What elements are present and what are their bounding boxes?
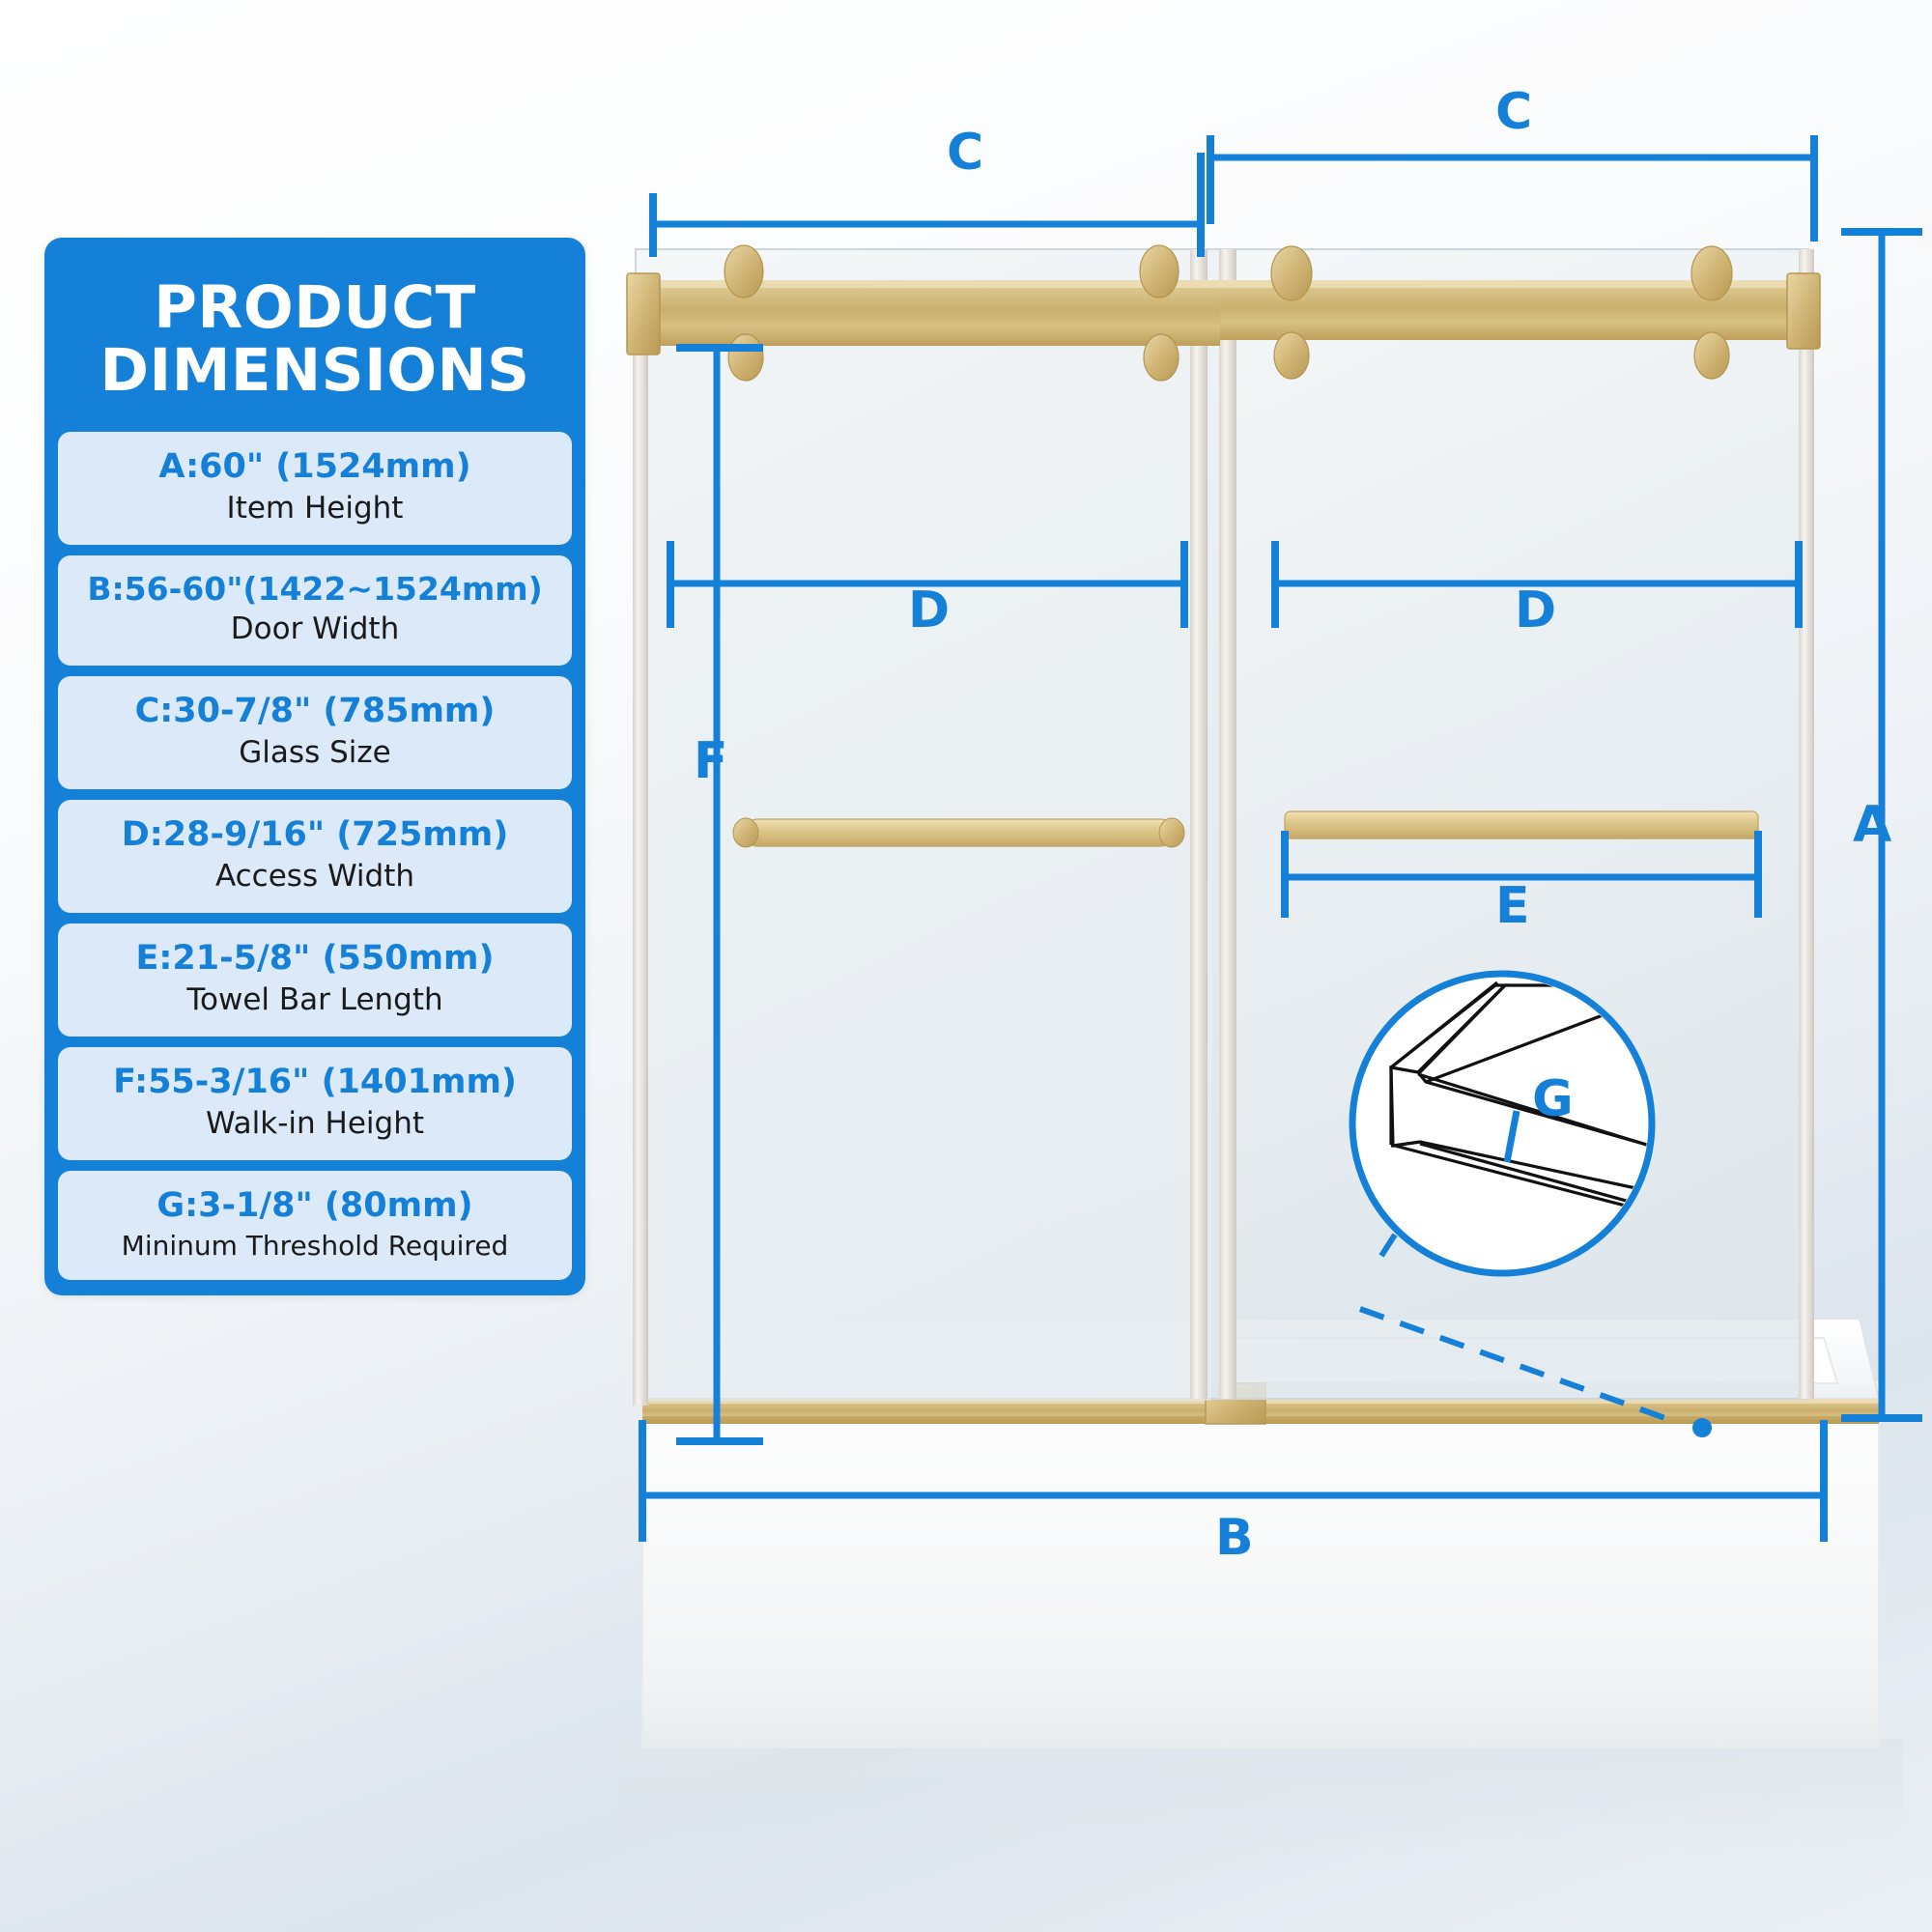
towel-bar-left	[733, 818, 1184, 847]
panel-title-line-1: PRODUCT	[62, 276, 568, 339]
dimension-label-b: B	[1215, 1513, 1254, 1563]
dimension-label-text-c: Glass Size	[66, 734, 564, 772]
dimension-label-text-g: Mininum Threshold Required	[66, 1229, 564, 1263]
dimension-label-text-e: Towel Bar Length	[66, 981, 564, 1019]
dimension-card-f: F:55-3/16" (1401mm) Walk-in Height	[58, 1047, 572, 1160]
dimension-label-c-left: C	[947, 128, 983, 178]
dimension-label-a: A	[1853, 800, 1891, 850]
dimension-card-g: G:3-1/8" (80mm) Mininum Threshold Requir…	[58, 1171, 572, 1280]
dimension-card-e: E:21-5/8" (550mm) Towel Bar Length	[58, 923, 572, 1037]
dimension-card-c: C:30-7/8" (785mm) Glass Size	[58, 676, 572, 789]
panel-title: PRODUCT DIMENSIONS	[58, 251, 572, 432]
product-dimensions-infographic: C C D D E F A B G PRODUCT DIMENSIONS A:6…	[0, 0, 1932, 1932]
dimension-label-text-b: Door Width	[66, 611, 564, 648]
dimension-value-b: B:56-60"(1422~1524mm)	[66, 571, 564, 608]
dimension-value-g: G:3-1/8" (80mm)	[66, 1186, 564, 1225]
dimension-label-c-right: C	[1495, 87, 1532, 137]
dimension-label-f: F	[694, 736, 728, 786]
dimension-label-g: G	[1532, 1074, 1574, 1124]
dimension-card-b: B:56-60"(1422~1524mm) Door Width	[58, 555, 572, 667]
dimension-value-e: E:21-5/8" (550mm)	[66, 939, 564, 978]
dimension-label-text-d: Access Width	[66, 858, 564, 895]
dimension-card-d: D:28-9/16" (725mm) Access Width	[58, 800, 572, 913]
dimension-label-text-a: Item Height	[66, 490, 564, 527]
dimension-card-a: A:60" (1524mm) Item Height	[58, 432, 572, 545]
panel-title-line-2: DIMENSIONS	[62, 339, 568, 402]
dimension-label-text-f: Walk-in Height	[66, 1105, 564, 1143]
towel-bar-right	[1285, 811, 1758, 838]
dimension-value-f: F:55-3/16" (1401mm)	[66, 1063, 564, 1101]
dimension-label-e: E	[1495, 881, 1530, 931]
dimension-label-d-right: D	[1515, 585, 1556, 636]
dimension-label-d-left: D	[908, 585, 950, 636]
product-dimensions-panel: PRODUCT DIMENSIONS A:60" (1524mm) Item H…	[44, 238, 585, 1295]
dimension-value-c: C:30-7/8" (785mm)	[66, 692, 564, 730]
dimension-value-d: D:28-9/16" (725mm)	[66, 815, 564, 854]
dimension-value-a: A:60" (1524mm)	[66, 447, 564, 486]
